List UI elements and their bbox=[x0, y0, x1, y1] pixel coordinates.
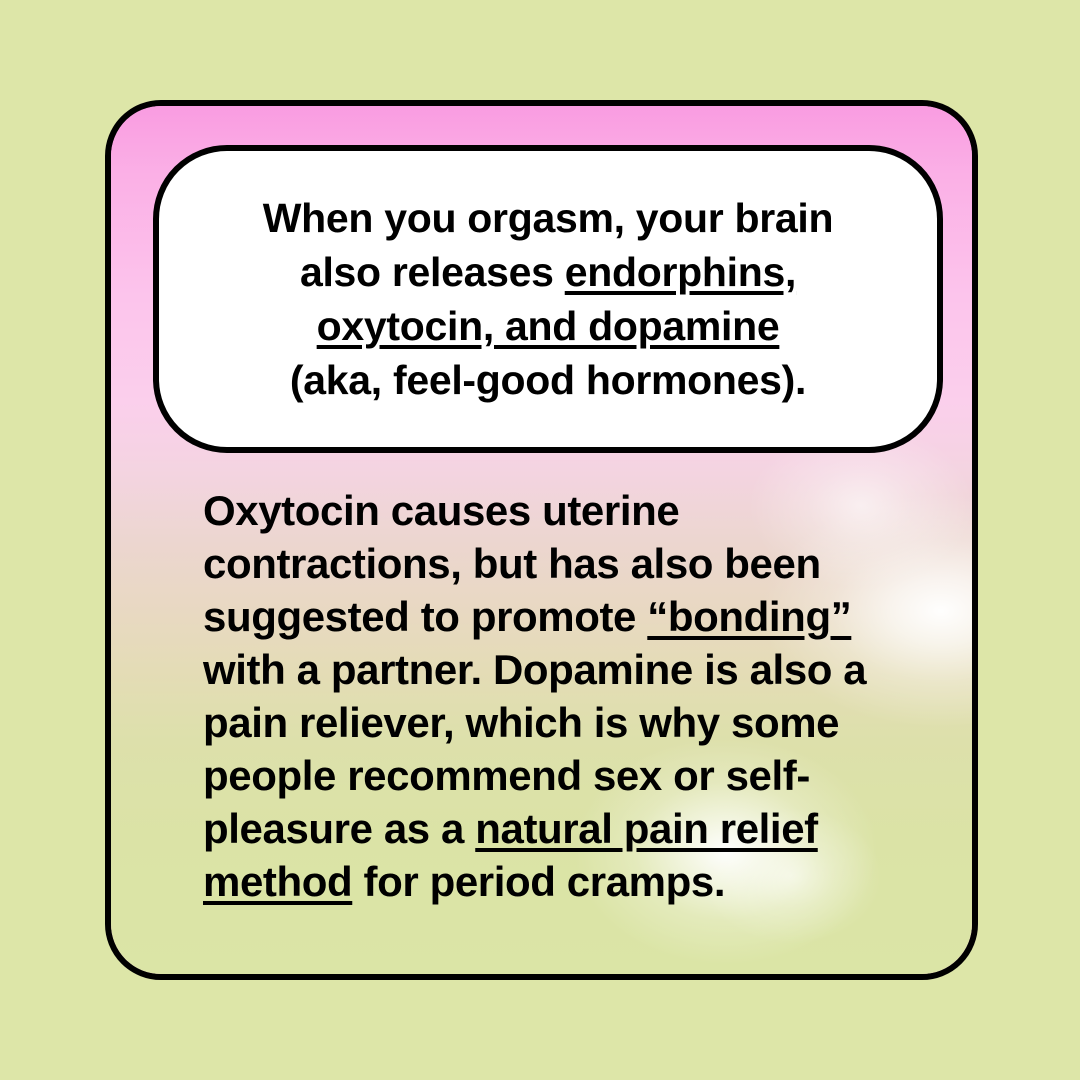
emphasised-run: “bonding” bbox=[647, 593, 851, 640]
poster-canvas: When you orgasm, your brain also release… bbox=[0, 0, 1080, 1080]
gradient-card: When you orgasm, your brain also release… bbox=[105, 100, 978, 980]
body-paragraph: Oxytocin causes uterine contractions, bu… bbox=[203, 484, 909, 908]
plain-run: for period cramps. bbox=[352, 858, 725, 905]
speech-bubble: When you orgasm, your brain also release… bbox=[153, 145, 943, 453]
speech-bubble-text: When you orgasm, your brain also release… bbox=[241, 191, 856, 407]
plain-run: (aka, feel-good hormones). bbox=[290, 357, 806, 403]
